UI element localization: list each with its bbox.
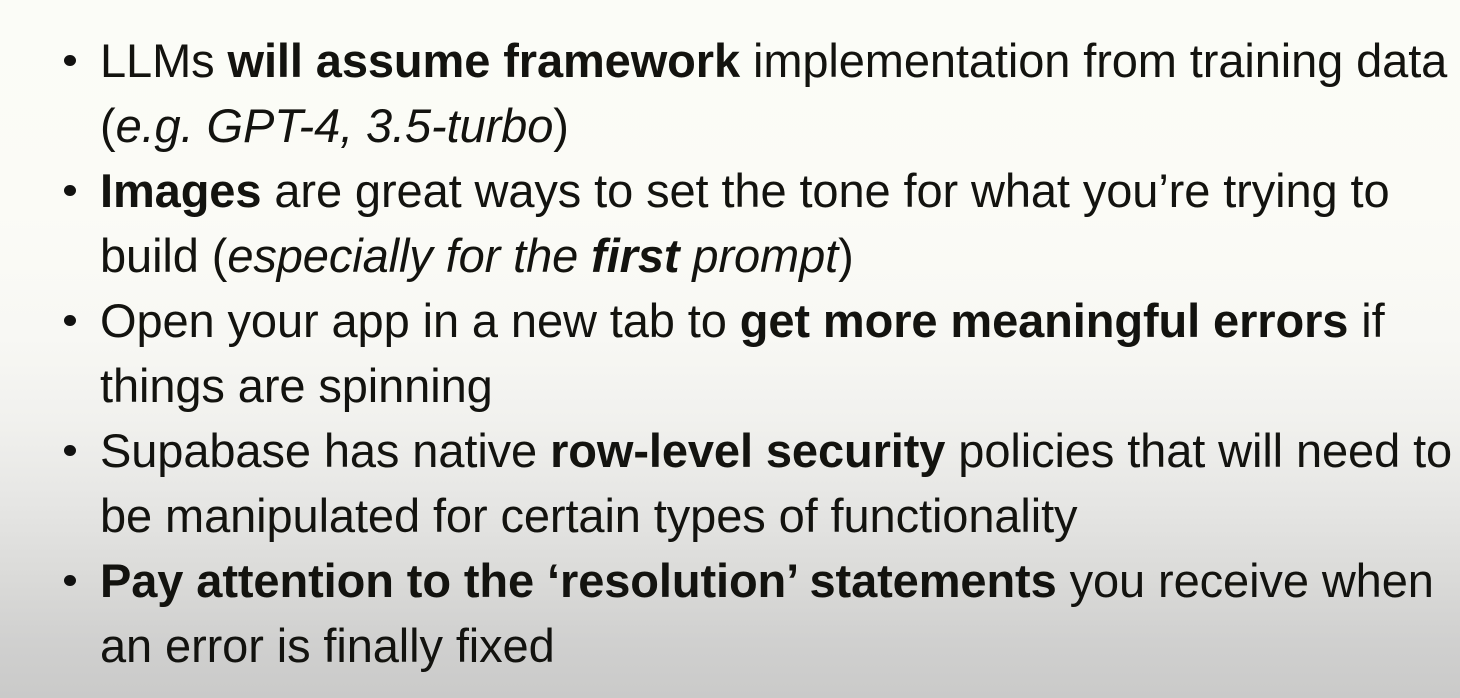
bullet-supabase-row-level-security: Supabase has native row-level security p…	[0, 418, 1460, 548]
text-run: )	[838, 229, 854, 282]
text-run: Images	[100, 164, 261, 217]
text-run: LLMs	[100, 34, 228, 87]
text-run: Pay attention to the ‘resolution’ statem…	[100, 554, 1057, 607]
text-run: prompt	[679, 229, 838, 282]
bullet-dot-icon	[64, 575, 76, 586]
slide-canvas: LLMs will assume framework implementatio…	[0, 0, 1460, 698]
text-run: )	[553, 99, 569, 152]
bullet-text: Supabase has native row-level security p…	[100, 424, 1452, 542]
bullet-dot-icon	[64, 445, 76, 456]
bullet-dot-icon	[64, 315, 76, 326]
bullet-text: Pay attention to the ‘resolution’ statem…	[100, 554, 1434, 672]
bullet-llms-assume-framework: LLMs will assume framework implementatio…	[0, 28, 1460, 158]
bullet-dot-icon	[64, 185, 76, 196]
text-run: Open your app in a new tab to	[100, 294, 740, 347]
bullet-text: Images are great ways to set the tone fo…	[100, 164, 1390, 282]
bullet-images-set-tone: Images are great ways to set the tone fo…	[0, 158, 1460, 288]
text-run: row-level security	[550, 424, 945, 477]
text-run: e.g. GPT-4, 3.5-turbo	[116, 99, 554, 152]
bullet-open-app-new-tab: Open your app in a new tab to get more m…	[0, 288, 1460, 418]
bullet-list: LLMs will assume framework implementatio…	[0, 28, 1460, 678]
text-run: get more meaningful errors	[740, 294, 1349, 347]
bullet-resolution-statements: Pay attention to the ‘resolution’ statem…	[0, 548, 1460, 678]
text-run: Supabase has native	[100, 424, 550, 477]
text-run: will assume framework	[228, 34, 741, 87]
bullet-text: LLMs will assume framework implementatio…	[100, 34, 1447, 152]
text-run: especially for the	[227, 229, 591, 282]
bullet-dot-icon	[64, 55, 76, 66]
text-run: first	[591, 229, 679, 282]
bullet-text: Open your app in a new tab to get more m…	[100, 294, 1385, 412]
